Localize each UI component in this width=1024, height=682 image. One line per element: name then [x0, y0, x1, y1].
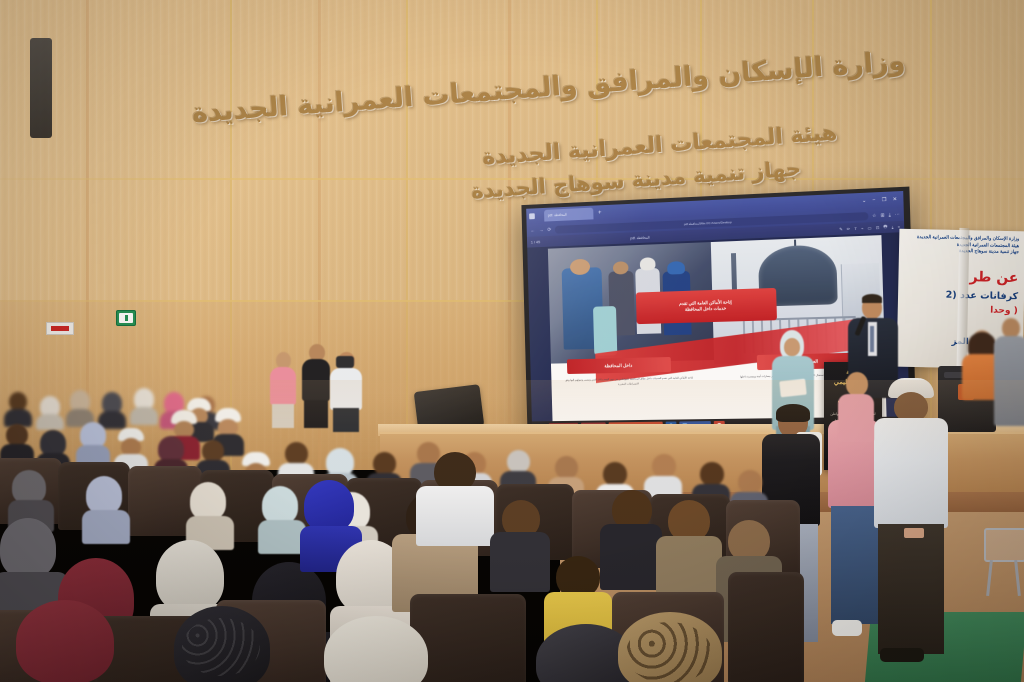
slide-paragraph-left: إتاحة الأماكن العامة التي تقدم الخدمات د… — [564, 375, 694, 388]
shoe — [880, 648, 924, 662]
blue-jeans — [831, 506, 878, 624]
chevron-down-icon[interactable]: ⌄ — [862, 198, 867, 204]
man-with-white-cap — [874, 378, 952, 682]
pdf-document-name: المحافظة .pdf — [630, 235, 649, 240]
blue-hijab — [304, 480, 354, 532]
grey-jacket — [994, 336, 1024, 426]
presenter-face — [784, 338, 800, 356]
back-icon[interactable]: ← — [530, 227, 535, 233]
audience-person — [416, 452, 494, 544]
browser-tab-title: المحافظة .pdf — [548, 213, 567, 218]
photographer-in-black — [302, 344, 330, 428]
bookmark-star-icon[interactable]: ☆ — [872, 212, 876, 218]
black-shirt — [302, 359, 330, 401]
presenter-papers — [779, 379, 807, 398]
download-icon[interactable]: ⤓ — [892, 224, 894, 229]
person-in-grey — [994, 318, 1024, 428]
conference-hall-photo: وزارة الإسكان والمرافق والمجتمعات العمرا… — [0, 0, 1024, 682]
white-shirt — [330, 368, 362, 410]
wall-grid-line — [406, 0, 408, 470]
pdf-tools[interactable]: ✎ ✏ T ⌁ ▭ ⊡ 🖶 ⤓ » — [839, 223, 900, 233]
audience-person — [66, 390, 94, 426]
pdf-page-controls[interactable]: 1 / 45 — [531, 239, 541, 244]
window-controls[interactable]: ⌄ − ❐ ✕ — [862, 196, 901, 204]
print-icon[interactable]: 🖶 — [883, 224, 887, 231]
slide-tag-left-label: داخل المحافظة — [604, 362, 632, 369]
draw-icon[interactable]: ✎ — [839, 226, 843, 231]
white-shirt — [874, 418, 948, 528]
erase-icon[interactable]: ⌁ — [861, 226, 864, 231]
light-trousers — [272, 404, 294, 428]
white-hijab — [324, 616, 428, 682]
collections-icon[interactable]: ⊞ — [880, 212, 884, 218]
maroon-hijab — [16, 600, 114, 682]
shape-icon[interactable]: ▭ — [868, 225, 872, 230]
white-tshirt — [416, 486, 494, 546]
close-button[interactable]: ✕ — [893, 196, 898, 202]
seated-man-pink — [838, 372, 874, 442]
pink-top — [838, 394, 874, 442]
white-sneaker — [832, 620, 862, 636]
head — [1002, 318, 1020, 338]
wall-grid-line — [230, 0, 232, 470]
black-trousers — [304, 400, 328, 428]
cameraman-in-white-shirt — [330, 352, 362, 432]
emergency-exit-sign — [116, 310, 136, 326]
address-bar-actions[interactable]: ☆ ⊞ ⤓ ⋯ — [872, 211, 900, 218]
url-text: file:///C:/Users/Desktop/المحافظة.pdf — [684, 220, 732, 226]
seat — [728, 572, 804, 682]
download-icon[interactable]: ⤓ — [889, 212, 891, 217]
audience-person — [186, 482, 234, 548]
audience-person — [82, 476, 130, 542]
hijab-pattern — [182, 618, 260, 676]
pocket-item — [904, 528, 924, 538]
save-icon[interactable]: ⊡ — [876, 225, 880, 230]
more-menu-icon[interactable]: ⋯ — [895, 211, 900, 217]
wall-speaker-box — [30, 38, 52, 138]
hijab-pattern — [626, 622, 712, 682]
audience-person — [258, 486, 306, 552]
text-icon[interactable]: T — [854, 226, 857, 231]
wall-notice-sign — [46, 322, 74, 335]
slide-red-badge: إتاحة الأماكن العامة التي تقدم خدمات داخ… — [636, 287, 777, 324]
wall-seam — [508, 0, 511, 470]
pink-shirt — [270, 367, 296, 405]
child-audience — [490, 500, 550, 592]
audience-person — [36, 396, 64, 428]
reload-icon[interactable]: ⟳ — [547, 227, 551, 233]
head — [846, 372, 868, 396]
metal-stand — [984, 528, 1024, 562]
dark-trousers — [878, 524, 944, 654]
audience-person — [4, 392, 32, 426]
camera-icon — [336, 356, 354, 368]
foreground-audience-person — [318, 616, 438, 682]
notice-bar — [51, 326, 69, 331]
highlight-icon[interactable]: ✏ — [847, 226, 851, 231]
minimize-button[interactable]: − — [872, 197, 875, 203]
browser-app-icon — [529, 213, 535, 219]
page-indicator: 1 / 45 — [531, 239, 541, 244]
photographer-in-pink — [270, 352, 296, 428]
foreground-audience-person — [10, 600, 126, 682]
dark-trousers — [333, 408, 359, 432]
maximize-button[interactable]: ❐ — [882, 197, 887, 203]
speaker-tie — [870, 326, 874, 352]
audience-person — [130, 388, 158, 424]
new-tab-button[interactable]: + — [598, 210, 602, 216]
browser-tab[interactable]: المحافظة .pdf — [544, 208, 593, 222]
slide-badge-line-2: خدمات داخل المحافظة — [685, 305, 726, 312]
foreground-audience-person — [168, 606, 280, 682]
forward-icon[interactable]: → — [539, 227, 544, 233]
cream-hijab — [156, 540, 224, 612]
foreground-audience-person — [612, 612, 732, 682]
speaker-hair — [862, 294, 882, 303]
audience-person — [600, 490, 662, 588]
hijab — [0, 518, 56, 578]
exit-icon — [119, 313, 133, 323]
hair — [776, 404, 810, 422]
slide-tag-left: داخل المحافظة — [567, 357, 671, 374]
